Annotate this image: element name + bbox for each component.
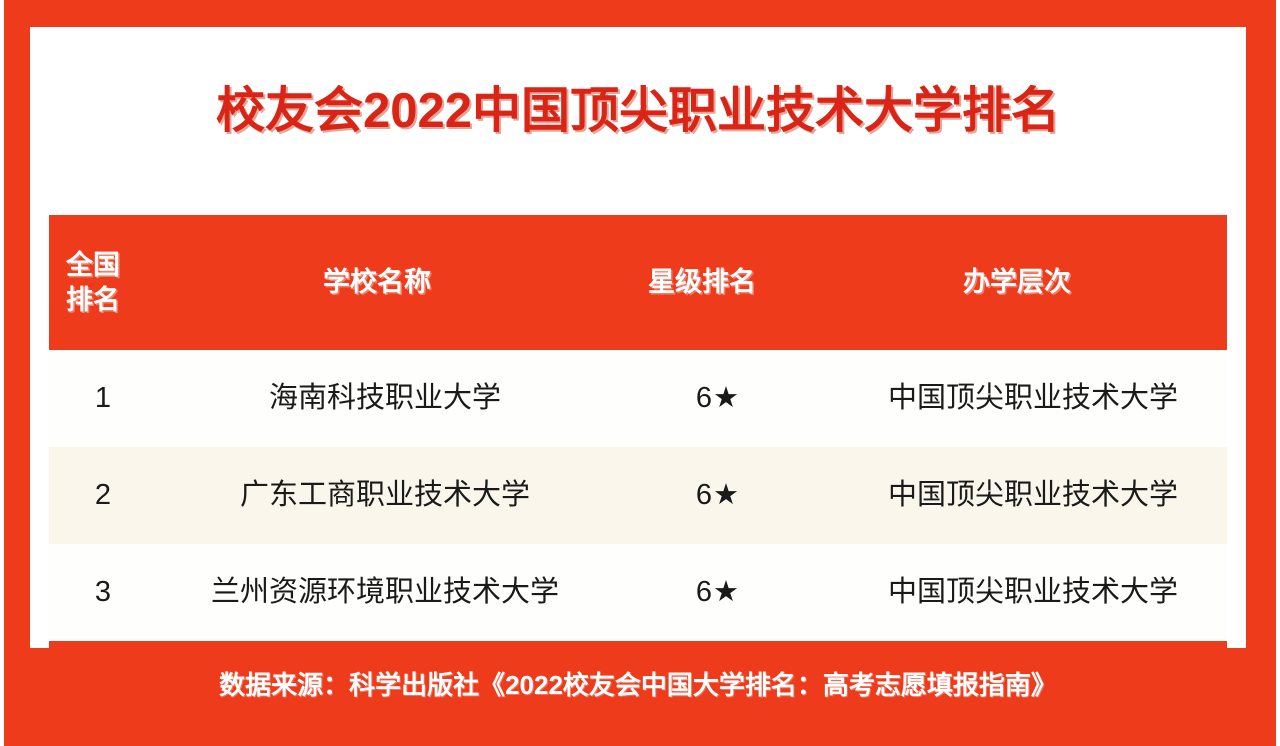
footer-band: 数据来源：科学出版社《2022校友会中国大学排名：高考志愿填报指南》	[30, 648, 1246, 746]
cell-star-rating: 6★	[613, 372, 823, 424]
page-title: 校友会2022中国顶尖职业技术大学排名	[216, 87, 1060, 136]
page-title-container: 校友会2022中国顶尖职业技术大学排名	[30, 87, 1246, 136]
table-row: 1 海南科技职业大学 6★ 中国顶尖职业技术大学	[49, 350, 1227, 447]
header-rank-line2: 排名	[66, 283, 157, 318]
table-bottom-divider	[49, 641, 1227, 648]
cell-school-level: 中国顶尖职业技术大学	[823, 566, 1243, 618]
cell-school-name: 广东工商职业技术大学	[157, 469, 613, 521]
poster-frame: 校友会2022中国顶尖职业技术大学排名 全国 排名 学校名称 星级排名 办学层次…	[4, 0, 1276, 746]
header-rank-line1: 全国	[66, 248, 157, 283]
ranking-table: 全国 排名 学校名称 星级排名 办学层次 1 海南科技职业大学 6★ 中国顶尖职…	[49, 215, 1227, 648]
header-cell-school-level: 办学层次	[807, 265, 1227, 300]
cell-rank: 2	[49, 469, 157, 521]
content-card: 校友会2022中国顶尖职业技术大学排名 全国 排名 学校名称 星级排名 办学层次…	[30, 27, 1246, 648]
header-cell-rank: 全国 排名	[49, 248, 157, 317]
cell-school-level: 中国顶尖职业技术大学	[823, 469, 1243, 521]
cell-star-rating: 6★	[613, 469, 823, 521]
table-header-row: 全国 排名 学校名称 星级排名 办学层次	[49, 215, 1227, 350]
cell-school-name: 兰州资源环境职业技术大学	[157, 566, 613, 618]
header-cell-star-rating: 星级排名	[597, 265, 807, 300]
cell-rank: 3	[49, 566, 157, 618]
cell-star-rating: 6★	[613, 566, 823, 618]
cell-rank: 1	[49, 372, 157, 424]
table-body: 1 海南科技职业大学 6★ 中国顶尖职业技术大学 2 广东工商职业技术大学 6★…	[49, 350, 1227, 641]
table-row: 2 广东工商职业技术大学 6★ 中国顶尖职业技术大学	[49, 447, 1227, 544]
header-cell-school-name: 学校名称	[157, 265, 597, 300]
cell-school-level: 中国顶尖职业技术大学	[823, 372, 1243, 424]
cell-school-name: 海南科技职业大学	[157, 372, 613, 424]
data-source-note: 数据来源：科学出版社《2022校友会中国大学排名：高考志愿填报指南》	[219, 672, 1057, 698]
table-row: 3 兰州资源环境职业技术大学 6★ 中国顶尖职业技术大学	[49, 544, 1227, 641]
